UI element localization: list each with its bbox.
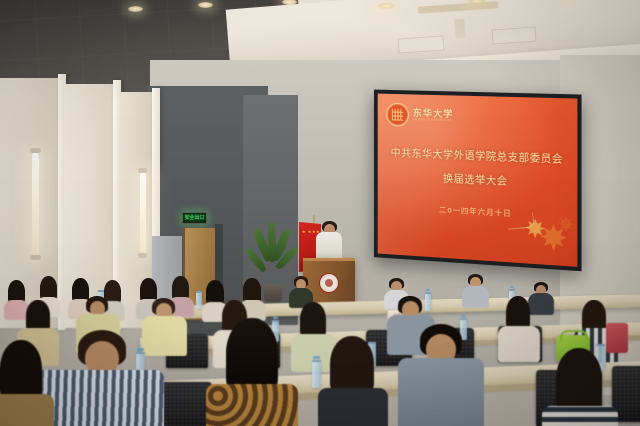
university-seal-icon — [386, 103, 409, 127]
plant-pot — [264, 284, 282, 302]
bottle-cap — [273, 317, 278, 319]
backpack-strap — [560, 330, 588, 341]
bottle-cap — [313, 356, 320, 359]
sconce-cap — [138, 253, 147, 258]
recessed-downlight — [198, 2, 213, 8]
water-bottle — [312, 360, 321, 388]
wall-sconce-light — [140, 172, 146, 254]
podium-crest-icon — [319, 273, 339, 293]
bottle-cap — [137, 348, 144, 351]
ceiling-air-vent — [398, 35, 445, 53]
maple-leaf-decoration-icon — [557, 214, 576, 233]
bottle-cap — [426, 289, 430, 291]
bottle-cap — [510, 286, 514, 288]
presentation-screen: 东华大学 DONGHUA UNIVERSITY 中共东华大学外语学院总支部委员会… — [374, 90, 582, 272]
slide-logo: 东华大学 DONGHUA UNIVERSITY — [386, 103, 453, 129]
sconce-cap — [30, 148, 41, 153]
seal-inner-glyph — [392, 109, 403, 121]
ceiling-air-vent — [492, 26, 537, 44]
screen-surface: 东华大学 DONGHUA UNIVERSITY 中共东华大学外语学院总支部委员会… — [378, 94, 578, 267]
wall-sconce-light — [32, 152, 39, 256]
water-bottle — [196, 291, 202, 309]
recessed-downlight — [128, 6, 143, 12]
logo-english-name: DONGHUA UNIVERSITY — [413, 119, 454, 123]
red-handbag — [606, 323, 628, 353]
exit-sign: 安全出口 — [182, 212, 207, 224]
bottle-cap — [461, 315, 466, 317]
exit-sign-label: 安全出口 — [184, 216, 204, 221]
water-bottle — [425, 292, 431, 311]
sconce-cap — [138, 168, 147, 173]
ceiling-speaker — [454, 19, 465, 39]
recessed-downlight — [378, 3, 395, 9]
conference-hall-photo: 安全出口 东华大学 DONGHUA UNIVERSITY 中共东华大学外语学院总… — [0, 0, 640, 426]
sconce-cap — [30, 255, 41, 260]
